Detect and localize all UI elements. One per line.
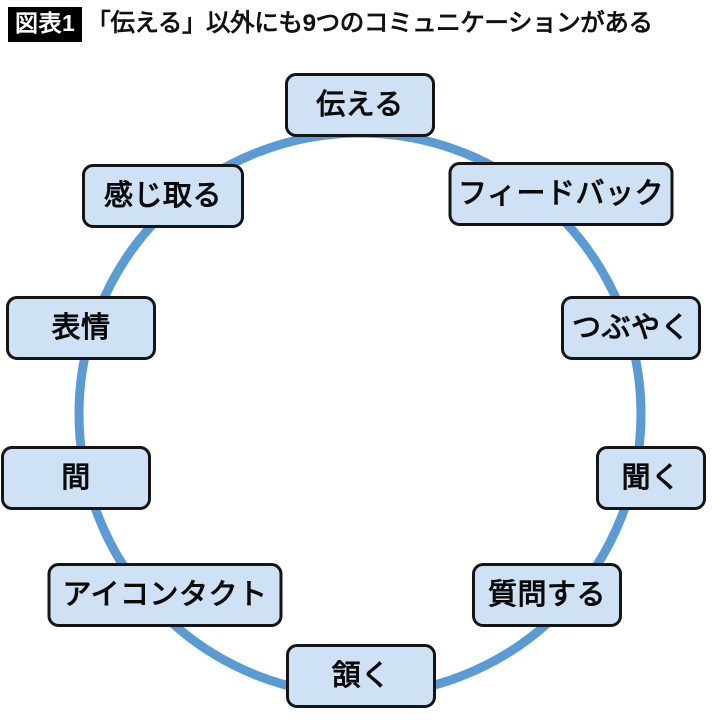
cycle-node-3[interactable]: 聞く — [596, 446, 706, 510]
figure-root: 図表1 「伝える」以外にも9つのコミュニケーションがある 伝える フィードバック… — [0, 0, 720, 720]
cycle-node-7[interactable]: 間 — [1, 446, 151, 510]
cycle-node-label: 表情 — [51, 314, 110, 343]
cycle-node-5[interactable]: 頷く — [286, 644, 436, 708]
cycle-node-label: 聞く — [621, 464, 680, 493]
cycle-node-label: 質問する — [488, 581, 606, 610]
cycle-node-0[interactable]: 伝える — [285, 73, 435, 137]
cycle-node-label: 間 — [61, 464, 91, 493]
cycle-node-1[interactable]: フィードバック — [449, 162, 674, 226]
cycle-node-label: フィードバック — [458, 180, 664, 209]
cycle-node-2[interactable]: つぶやく — [561, 296, 701, 360]
cycle-node-9[interactable]: 感じ取る — [82, 164, 244, 228]
cycle-node-label: 感じ取る — [104, 182, 222, 211]
cycle-node-label: 頷く — [331, 662, 390, 691]
cycle-node-label: アイコンタクト — [62, 581, 267, 610]
cycle-node-6[interactable]: アイコンタクト — [48, 563, 283, 627]
cycle-node-label: つぶやく — [572, 314, 690, 343]
cycle-node-8[interactable]: 表情 — [6, 296, 156, 360]
cycle-node-label: 伝える — [316, 91, 404, 120]
cycle-node-4[interactable]: 質問する — [472, 563, 622, 627]
